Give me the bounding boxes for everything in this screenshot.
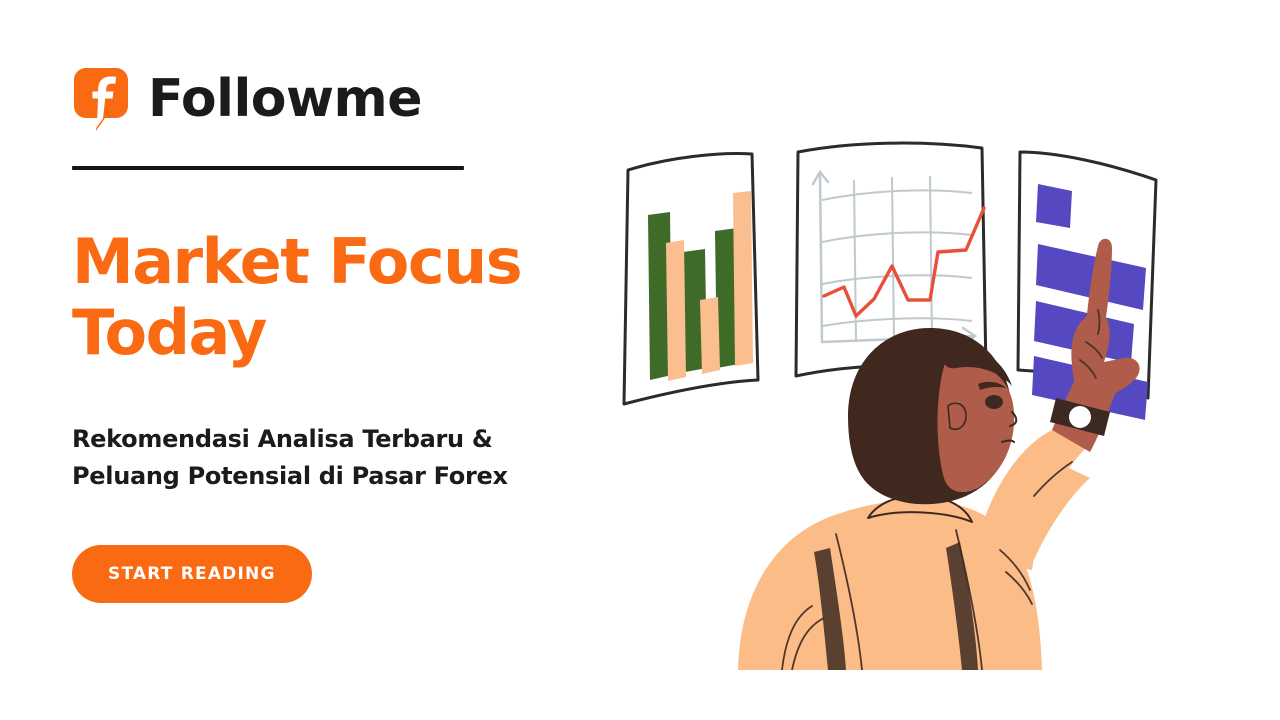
brand-name: Followme bbox=[148, 73, 422, 125]
subtitle-line-1: Rekomendasi Analisa Terbaru & bbox=[72, 421, 552, 458]
bar-chart-panel bbox=[624, 154, 758, 404]
page-subtitle: Rekomendasi Analisa Terbaru & Peluang Po… bbox=[72, 421, 552, 495]
headline-line-2: Today bbox=[72, 297, 542, 368]
man-analyzing-charts-illustration bbox=[600, 130, 1220, 670]
page-title: Market Focus Today bbox=[72, 226, 542, 369]
start-reading-button[interactable]: START READING bbox=[72, 545, 312, 603]
headline-line-1: Market Focus bbox=[72, 226, 542, 297]
subtitle-line-2: Peluang Potensial di Pasar Forex bbox=[72, 458, 552, 495]
marketing-banner: Followme Market Focus Today Rekomendasi … bbox=[0, 0, 1280, 720]
hero-text-column: Followme Market Focus Today Rekomendasi … bbox=[72, 60, 612, 603]
brand-logo-lockup[interactable]: Followme bbox=[72, 60, 612, 138]
header-divider bbox=[72, 166, 464, 170]
followme-speech-bubble-f-icon bbox=[72, 66, 130, 132]
